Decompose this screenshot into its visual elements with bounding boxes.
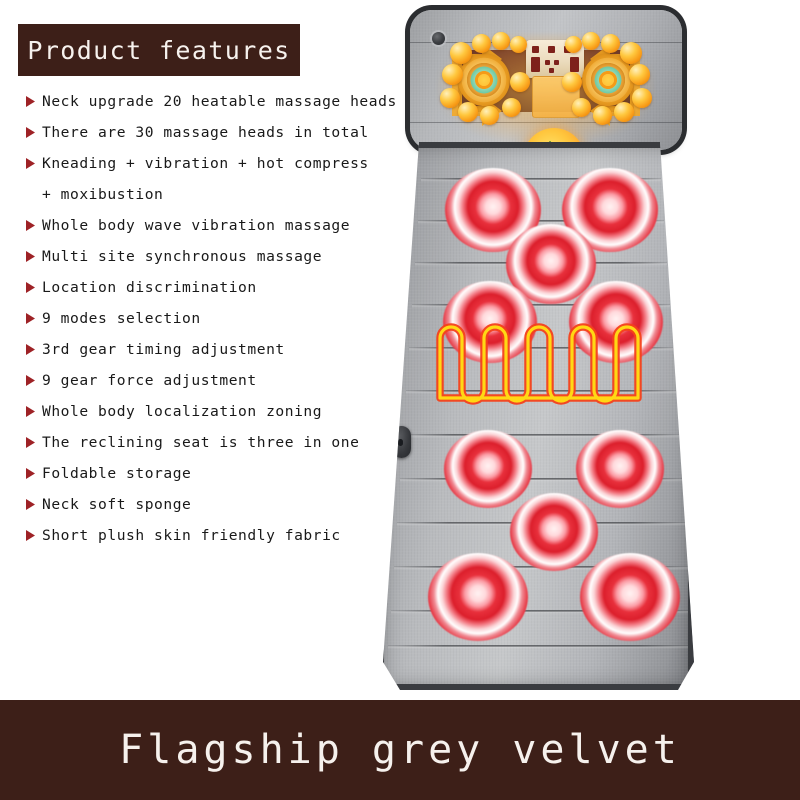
- bullet-arrow-icon: [18, 117, 42, 148]
- feature-item: There are 30 massage heads in total: [18, 117, 418, 148]
- bullet-arrow-icon: [18, 427, 42, 458]
- bullet-arrow-icon: [18, 396, 42, 427]
- massage-node: [440, 88, 460, 108]
- power-port-icon[interactable]: [392, 426, 411, 458]
- bullet-arrow-icon: [18, 241, 42, 272]
- feature-text: Neck soft sponge: [42, 489, 191, 520]
- bullet-arrow-icon: [18, 365, 42, 396]
- massage-node: [502, 98, 521, 117]
- bullet-arrow-icon: [18, 303, 42, 334]
- feature-item: Whole body wave vibration massage: [18, 210, 418, 241]
- heating-coil: [434, 320, 644, 410]
- feature-item: 9 gear force adjustment: [18, 365, 418, 396]
- variant-label: Flagship grey velvet: [119, 727, 681, 773]
- bullet-arrow-icon: [18, 334, 42, 365]
- feature-item: Location discrimination: [18, 272, 418, 303]
- massage-node: [593, 106, 612, 125]
- massage-node: [472, 34, 491, 53]
- massage-node: [620, 42, 642, 64]
- feature-item: Foldable storage: [18, 458, 418, 489]
- feature-text: 9 modes selection: [42, 303, 201, 334]
- feature-item: 3rd gear timing adjustment: [18, 334, 418, 365]
- massage-node: [442, 64, 463, 85]
- mat-seam-highlight: [388, 646, 694, 649]
- massage-node: [492, 32, 510, 50]
- feature-text: Foldable storage: [42, 458, 191, 489]
- massage-node: [450, 42, 472, 64]
- massage-mat-body: [378, 142, 694, 690]
- feature-item: 9 modes selection: [18, 303, 418, 334]
- bullet-arrow-icon: [18, 272, 42, 303]
- bullet-spacer: [18, 179, 42, 210]
- feature-text: 9 gear force adjustment: [42, 365, 257, 396]
- massage-node: [582, 32, 600, 50]
- massage-node: [510, 72, 530, 92]
- product-features-header: Product features: [18, 24, 300, 76]
- bullet-arrow-icon: [18, 489, 42, 520]
- massage-node: [601, 34, 620, 53]
- bullet-arrow-icon: [18, 520, 42, 551]
- bullet-arrow-icon: [18, 148, 42, 179]
- feature-text: The reclining seat is three in one: [42, 427, 359, 458]
- feature-item: The reclining seat is three in one: [18, 427, 418, 458]
- heat-ring: [576, 430, 664, 507]
- heat-ring: [428, 553, 528, 641]
- heat-ring: [510, 493, 598, 570]
- product-feature-poster: Product features Neck upgrade 20 heatabl…: [0, 0, 800, 800]
- feature-item: Neck upgrade 20 heatable massage heads: [18, 86, 418, 117]
- massage-node: [572, 98, 591, 117]
- massage-node: [629, 64, 650, 85]
- massage-node: [510, 36, 527, 53]
- feature-text: 3rd gear timing adjustment: [42, 334, 285, 365]
- feature-text: There are 30 massage heads in total: [42, 117, 369, 148]
- feature-text: Multi site synchronous massage: [42, 241, 322, 272]
- feature-text: Short plush skin friendly fabric: [42, 520, 341, 551]
- feature-item: Short plush skin friendly fabric: [18, 520, 418, 551]
- heat-ring: [580, 553, 680, 641]
- heat-ring: [444, 430, 532, 507]
- feature-text: Whole body wave vibration massage: [42, 210, 350, 241]
- feature-text: Neck upgrade 20 heatable massage heads: [42, 86, 397, 117]
- header-title: Product features: [27, 36, 290, 65]
- feature-text: Whole body localization zoning: [42, 396, 322, 427]
- product-illustration: [370, 0, 700, 700]
- feature-text: Location discrimination: [42, 272, 257, 303]
- feature-item: Kneading + vibration + hot compress: [18, 148, 418, 179]
- feature-text: + moxibustion: [42, 179, 163, 210]
- feature-item: + moxibustion: [18, 179, 418, 210]
- massage-node: [614, 102, 634, 122]
- feature-list: Neck upgrade 20 heatable massage headsTh…: [18, 86, 418, 551]
- feature-item: Neck soft sponge: [18, 489, 418, 520]
- massage-node: [562, 72, 582, 92]
- variant-banner: Flagship grey velvet: [0, 700, 800, 800]
- massage-node: [565, 36, 582, 53]
- massage-node: [458, 102, 478, 122]
- feature-item: Multi site synchronous massage: [18, 241, 418, 272]
- feature-item: Whole body localization zoning: [18, 396, 418, 427]
- massage-node: [632, 88, 652, 108]
- bullet-arrow-icon: [18, 210, 42, 241]
- bullet-arrow-icon: [18, 86, 42, 117]
- bullet-arrow-icon: [18, 458, 42, 489]
- feature-text: Kneading + vibration + hot compress: [42, 148, 369, 179]
- massage-node: [480, 106, 499, 125]
